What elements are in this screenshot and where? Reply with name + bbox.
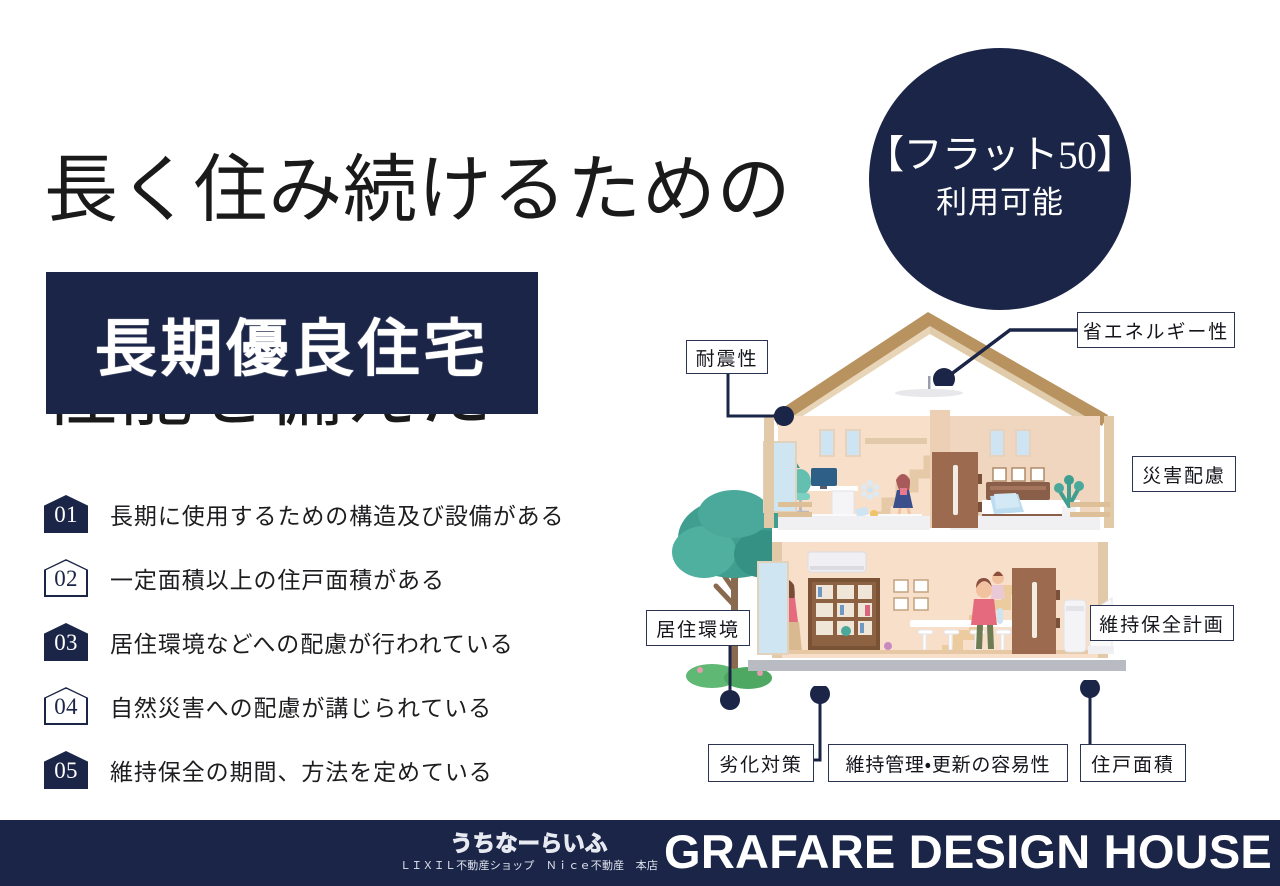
list-item-label: 維持保全の期間、方法を定めている bbox=[110, 753, 493, 787]
list-item-label: 居住環境などへの配慮が行われている bbox=[110, 625, 514, 659]
leader-line-kyoju-kankyo bbox=[700, 640, 760, 720]
callout-label: 維持保全計画 bbox=[1099, 610, 1224, 637]
callout-shoenergy: 省エネルギー性 bbox=[1077, 312, 1235, 348]
callout-label: 災害配慮 bbox=[1142, 461, 1226, 488]
lower-door bbox=[1012, 568, 1060, 654]
badge-number: 02 bbox=[54, 567, 77, 597]
requirements-list: 01 長期に使用するための構造及び設備がある 02 一定面積以上の住戸面積がある… bbox=[44, 482, 564, 802]
list-item-label: 自然災害への配慮が講じられている bbox=[110, 689, 492, 723]
list-item: 04 自然災害への配慮が講じられている bbox=[44, 674, 564, 738]
uchina-life-logo-text: うちなーらいふ bbox=[450, 832, 607, 856]
callout-iji-kanri: 維持管理・更新の容易性 bbox=[828, 744, 1068, 782]
upper-door bbox=[932, 452, 982, 528]
callout-iji-hozen-keikaku: 維持保全計画 bbox=[1090, 605, 1234, 641]
footer-bar: うちなーらいふ ＬＩＸＩＬ不動産ショップ Ｎｉｃｅ不動産 本店 GRAFARE … bbox=[0, 820, 1280, 886]
callout-taishinsei: 耐震性 bbox=[686, 340, 768, 374]
banner-label: 長期優良住宅 bbox=[95, 298, 489, 388]
callout-juko-menseki: 住戸面積 bbox=[1080, 744, 1186, 782]
callout-kyoju-kankyo: 居住環境 bbox=[646, 610, 750, 646]
footer-content: うちなーらいふ ＬＩＸＩＬ不動産ショップ Ｎｉｃｅ不動産 本店 GRAFARE … bbox=[400, 820, 1272, 886]
poster-root: 長く住み続けるための 性能を備えた 長期優良住宅 01 長期に使用するための構造… bbox=[0, 0, 1280, 886]
callout-label: 耐震性 bbox=[696, 344, 759, 371]
callout-label: 省エネルギー性 bbox=[1083, 317, 1229, 344]
badge-number: 04 bbox=[54, 695, 77, 725]
number-badge-house-icon: 01 bbox=[44, 495, 88, 533]
callout-saigai-hairyo: 災害配慮 bbox=[1132, 456, 1236, 492]
lower-window-glass bbox=[758, 562, 788, 654]
foundation bbox=[748, 660, 1126, 671]
uchina-life-logo: うちなーらいふ ＬＩＸＩＬ不動産ショップ Ｎｉｃｅ不動産 本店 bbox=[400, 832, 658, 873]
badge-number: 03 bbox=[54, 631, 77, 661]
list-item: 05 維持保全の期間、方法を定めている bbox=[44, 738, 564, 802]
long-life-housing-banner: 長期優良住宅 bbox=[46, 272, 538, 414]
leader-line-shoenergy bbox=[930, 326, 1090, 386]
list-item-label: 長期に使用するための構造及び設備がある bbox=[110, 497, 564, 531]
number-badge-house-icon: 05 bbox=[44, 751, 88, 789]
list-item: 01 長期に使用するための構造及び設備がある bbox=[44, 482, 564, 546]
list-item: 03 居住環境などへの配慮が行われている bbox=[44, 610, 564, 674]
callout-rekka-taisaku: 劣化対策 bbox=[708, 744, 814, 782]
brand-name: GRAFARE DESIGN HOUSE bbox=[664, 828, 1272, 879]
badge-number: 05 bbox=[54, 759, 77, 789]
list-item: 02 一定面積以上の住戸面積がある bbox=[44, 546, 564, 610]
number-badge-house-icon: 04 bbox=[44, 687, 88, 725]
list-item-label: 一定面積以上の住戸面積がある bbox=[110, 561, 445, 595]
callout-label: 居住環境 bbox=[656, 615, 740, 642]
callout-label: 劣化対策 bbox=[719, 750, 803, 777]
flat50-badge-line-1: 【フラット50】 bbox=[865, 135, 1135, 178]
flat50-badge: 【フラット50】 利用可能 bbox=[869, 48, 1131, 310]
number-badge-house-icon: 02 bbox=[44, 559, 88, 597]
leader-line-taishinsei bbox=[686, 372, 806, 432]
badge-number: 01 bbox=[54, 503, 77, 533]
flat50-badge-line-2: 利用可能 bbox=[936, 184, 1064, 223]
uchina-life-sublabel: ＬＩＸＩＬ不動産ショップ Ｎｉｃｅ不動産 本店 bbox=[400, 860, 658, 872]
callout-label: 維持管理・更新の容易性 bbox=[846, 750, 1051, 777]
headline-line-1: 長く住み続けるための bbox=[44, 140, 844, 242]
callout-label: 住戸面積 bbox=[1091, 750, 1175, 777]
number-badge-house-icon: 03 bbox=[44, 623, 88, 661]
